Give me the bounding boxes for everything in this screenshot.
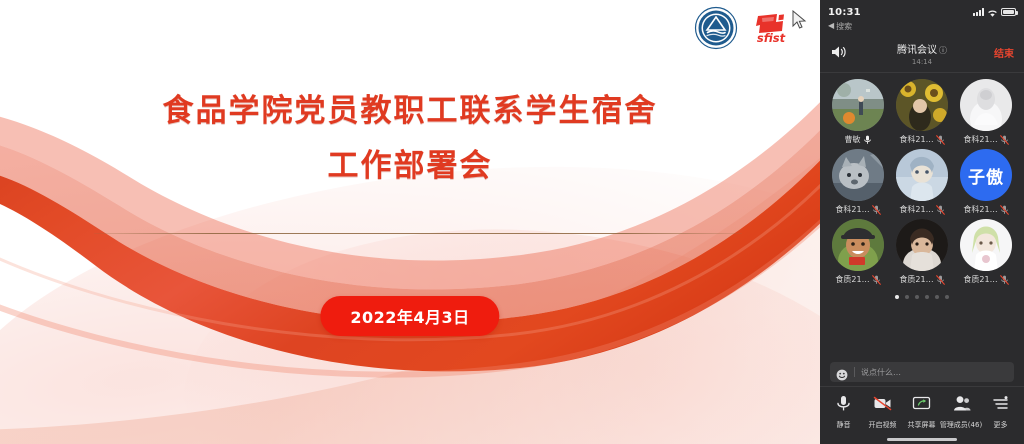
avatar bbox=[960, 79, 1012, 131]
more-icon bbox=[991, 394, 1010, 417]
wifi-icon bbox=[987, 3, 998, 22]
participant-tile[interactable]: 子傲食科21… bbox=[954, 149, 1018, 215]
participant-name: 食科21… bbox=[963, 134, 997, 145]
avatar bbox=[832, 149, 884, 201]
participant-name-row: 食科21… bbox=[899, 204, 944, 215]
microphone-muted-icon bbox=[1000, 135, 1009, 145]
avatar bbox=[896, 219, 948, 271]
avatar bbox=[896, 149, 948, 201]
avatar bbox=[832, 79, 884, 131]
sfist-logo-icon: sfist bbox=[750, 7, 792, 49]
meeting-info-icon[interactable]: ⓘ bbox=[939, 46, 947, 55]
page-dot[interactable] bbox=[925, 295, 929, 299]
meeting-header: 腾讯会议ⓘ 14:14 结束 bbox=[820, 32, 1024, 72]
toolbar-button-video-off[interactable]: 开启视频 bbox=[863, 394, 902, 430]
participant-grid: 曹敏食科21…食科21…食科21…食科21…子傲食科21…食质21…食质21…食… bbox=[820, 79, 1024, 285]
signal-bars-icon bbox=[973, 8, 984, 16]
participant-name: 食科21… bbox=[963, 204, 997, 215]
home-indicator bbox=[820, 434, 1024, 444]
toolbar-button-label: 开启视频 bbox=[869, 420, 897, 430]
toolbar-button-microphone[interactable]: 静音 bbox=[824, 394, 863, 430]
participant-name-row: 食质21… bbox=[835, 274, 880, 285]
participant-grid-area[interactable]: 曹敏食科21…食科21…食科21…食科21…子傲食科21…食质21…食质21…食… bbox=[820, 73, 1024, 356]
participant-tile[interactable]: 食科21… bbox=[890, 79, 954, 145]
microphone-on-icon bbox=[863, 135, 872, 145]
chat-placeholder[interactable]: 说点什么… bbox=[861, 367, 901, 378]
back-arrow-icon[interactable]: ◀ bbox=[828, 22, 834, 30]
participant-tile[interactable]: 食质21… bbox=[826, 219, 890, 285]
participant-name: 食质21… bbox=[963, 274, 997, 285]
microphone-muted-icon bbox=[936, 275, 945, 285]
participant-name-row: 食质21… bbox=[899, 274, 944, 285]
status-indicators bbox=[973, 3, 1016, 22]
participant-name-row: 食科21… bbox=[963, 204, 1008, 215]
participant-name-row: 食科21… bbox=[899, 134, 944, 145]
slide-logos: sfist bbox=[694, 6, 792, 50]
phone-meeting-panel: 10:31 ◀ 搜索 bbox=[820, 0, 1024, 444]
toolbar-button-members[interactable]: 管理成员(46) bbox=[941, 394, 981, 430]
microphone-muted-icon bbox=[936, 205, 945, 215]
page-indicator[interactable] bbox=[820, 295, 1024, 299]
page-dot[interactable] bbox=[915, 295, 919, 299]
participant-name: 曹敏 bbox=[845, 134, 861, 145]
participant-tile[interactable]: 食科21… bbox=[890, 149, 954, 215]
meeting-title: 腾讯会议ⓘ bbox=[897, 45, 947, 56]
date-badge: 2022年4月3日 bbox=[320, 296, 499, 336]
video-off-icon bbox=[873, 394, 892, 417]
slide-title-line-1: 食品学院党员教职工联系学生宿舍 bbox=[0, 96, 820, 127]
share-screen-icon bbox=[912, 394, 931, 417]
toolbar-button-label: 管理成员(46) bbox=[940, 420, 982, 430]
participant-tile[interactable]: 食科21… bbox=[954, 79, 1018, 145]
mouse-cursor-icon bbox=[792, 10, 808, 30]
members-icon bbox=[952, 394, 971, 417]
meeting-title-text: 腾讯会议 bbox=[897, 45, 937, 56]
toolbar-button-label: 静音 bbox=[837, 420, 851, 430]
red-ribbon-graphic bbox=[0, 0, 820, 444]
toolbar-button-share-screen[interactable]: 共享屏幕 bbox=[902, 394, 941, 430]
title-divider bbox=[94, 233, 742, 234]
page-dot[interactable] bbox=[895, 295, 899, 299]
avatar bbox=[896, 79, 948, 131]
participant-tile[interactable]: 食质21… bbox=[890, 219, 954, 285]
chat-input-box[interactable]: 说点什么… bbox=[830, 362, 1014, 382]
participant-name: 食科21… bbox=[835, 204, 869, 215]
meeting-toolbar: 静音开启视频共享屏幕管理成员(46)更多 bbox=[820, 386, 1024, 434]
battery-icon bbox=[1001, 8, 1016, 16]
microphone-muted-icon bbox=[872, 205, 881, 215]
participant-name-row: 曹敏 bbox=[845, 134, 872, 145]
svg-text:sfist: sfist bbox=[757, 31, 786, 45]
participant-name-row: 食科21… bbox=[835, 204, 880, 215]
status-time: 10:31 bbox=[828, 7, 861, 18]
page-dot[interactable] bbox=[945, 295, 949, 299]
participant-tile[interactable]: 食质21… bbox=[954, 219, 1018, 285]
participant-name: 食科21… bbox=[899, 134, 933, 145]
participant-name: 食质21… bbox=[899, 274, 933, 285]
participant-name-row: 食质21… bbox=[963, 274, 1008, 285]
avatar-initials: 子傲 bbox=[960, 149, 1012, 201]
speaker-icon[interactable] bbox=[830, 44, 848, 60]
emoji-icon[interactable] bbox=[836, 366, 848, 378]
status-bar: 10:31 bbox=[820, 4, 1024, 20]
participant-tile[interactable]: 食科21… bbox=[826, 149, 890, 215]
page-dot[interactable] bbox=[935, 295, 939, 299]
avatar bbox=[960, 219, 1012, 271]
back-label[interactable]: 搜索 bbox=[836, 21, 852, 32]
microphone-muted-icon bbox=[1000, 205, 1009, 215]
back-to-search-row[interactable]: ◀ 搜索 bbox=[820, 20, 1024, 32]
participant-tile[interactable]: 曹敏 bbox=[826, 79, 890, 145]
participant-name: 食质21… bbox=[835, 274, 869, 285]
slide-title-block: 食品学院党员教职工联系学生宿舍 工作部署会 bbox=[0, 96, 820, 182]
slide-title-line-2: 工作部署会 bbox=[0, 151, 820, 182]
microphone-muted-icon bbox=[936, 135, 945, 145]
screen-root: sfist 食品学院党员教职工联系学生宿舍 工作部署会 2022年4月3日 10… bbox=[0, 0, 1024, 444]
toolbar-button-label: 更多 bbox=[994, 420, 1008, 430]
chat-separator bbox=[854, 367, 855, 377]
microphone-muted-icon bbox=[1000, 275, 1009, 285]
participant-name: 食科21… bbox=[899, 204, 933, 215]
university-seal-icon bbox=[694, 6, 738, 50]
presentation-slide: sfist 食品学院党员教职工联系学生宿舍 工作部署会 2022年4月3日 bbox=[0, 0, 820, 444]
avatar: 子傲 bbox=[960, 149, 1012, 201]
avatar bbox=[832, 219, 884, 271]
participant-name-row: 食科21… bbox=[963, 134, 1008, 145]
end-meeting-button[interactable]: 结束 bbox=[994, 45, 1014, 60]
chat-bar: 说点什么… bbox=[820, 356, 1024, 386]
microphone-muted-icon bbox=[872, 275, 881, 285]
toolbar-button-more[interactable]: 更多 bbox=[981, 394, 1020, 430]
microphone-icon bbox=[834, 394, 853, 417]
page-dot[interactable] bbox=[905, 295, 909, 299]
toolbar-button-label: 共享屏幕 bbox=[908, 420, 936, 430]
